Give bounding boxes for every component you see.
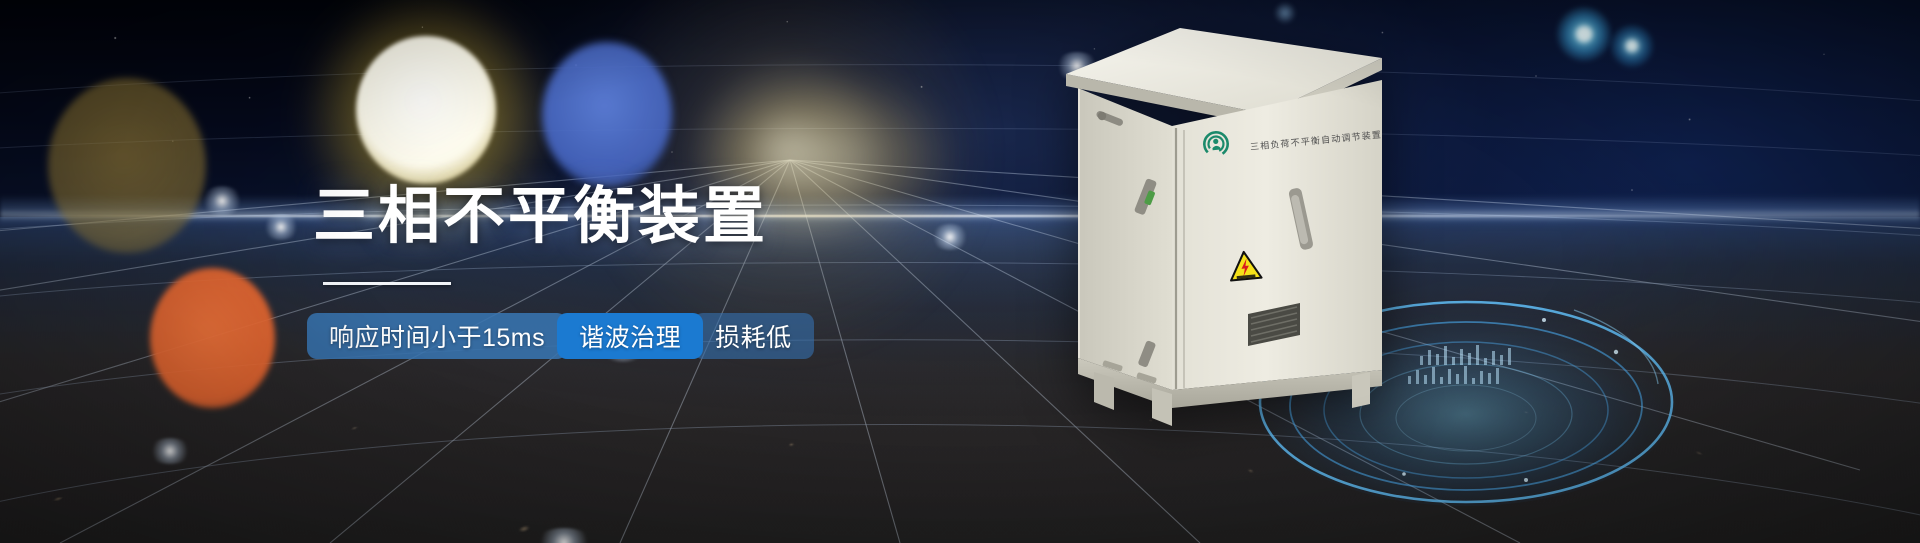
orange-bokeh (150, 268, 275, 408)
product-cabinet: 三相负荷不平衡自动调节装置 (1052, 18, 1382, 438)
feature-pill-list: 响应时间小于15ms 谐波治理 损耗低 (307, 313, 1013, 359)
feature-pill-harmonic-control[interactable]: 谐波治理 (557, 313, 703, 359)
blue-bokeh (542, 42, 672, 187)
feature-pill-response-time[interactable]: 响应时间小于15ms (307, 313, 567, 359)
grid-node-sparkle (148, 438, 192, 464)
grid-node-sparkle (200, 186, 244, 216)
cyan-dot-icon (1610, 24, 1654, 68)
grid-node-sparkle (262, 214, 300, 240)
white-bokeh (356, 36, 496, 184)
hero-banner: 三相负荷不平衡自动调节装置 三相不平衡装置 响应时间小于15ms 谐波治理 损耗… (0, 0, 1920, 543)
title-divider (323, 282, 451, 285)
feature-pill-low-loss[interactable]: 损耗低 (693, 313, 814, 359)
olive-bokeh (48, 78, 206, 253)
brand-logo-icon (1202, 130, 1230, 158)
cyan-dot-icon (1556, 6, 1612, 62)
hazard-warning-icon (1227, 248, 1264, 282)
banner-copy: 三相不平衡装置 响应时间小于15ms 谐波治理 损耗低 (313, 186, 1013, 359)
page-title: 三相不平衡装置 (313, 186, 1013, 248)
